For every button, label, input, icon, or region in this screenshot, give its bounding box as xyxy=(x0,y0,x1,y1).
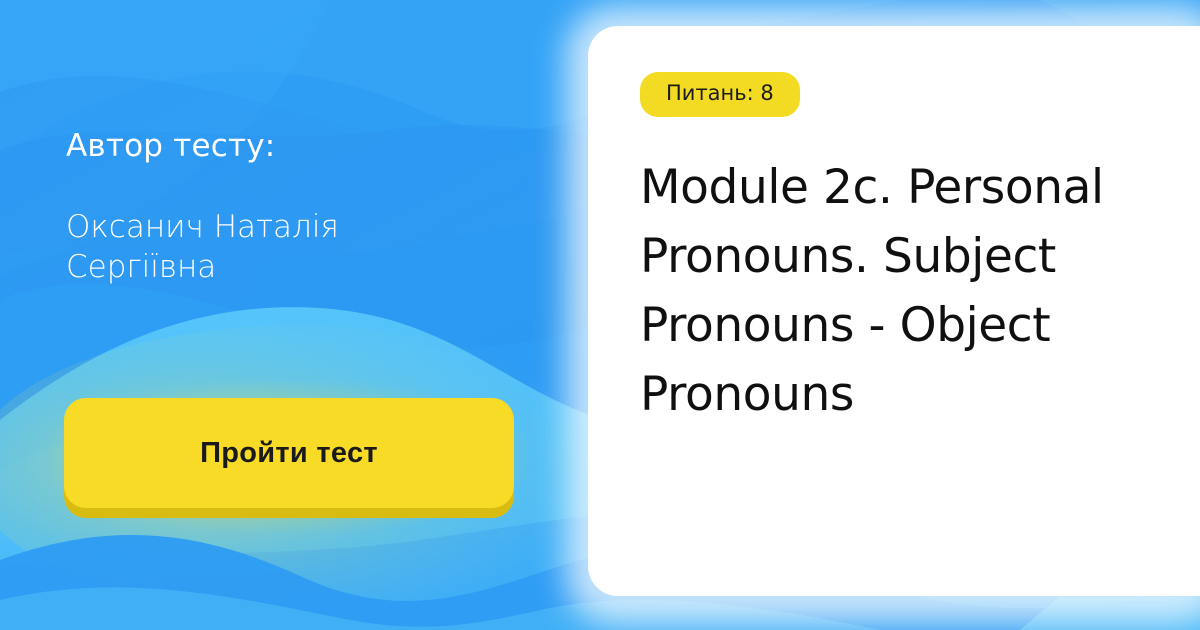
test-info-card: Питань: 8 Module 2c. Personal Pronouns. … xyxy=(588,26,1200,596)
author-name: Оксанич Наталія Сергіївна xyxy=(66,207,466,287)
test-title: Module 2c. Personal Pronouns. Subject Pr… xyxy=(640,153,1170,429)
author-label: Автор тесту: xyxy=(66,128,275,164)
question-count-badge: Питань: 8 xyxy=(640,72,800,117)
cta-button-wrapper: Пройти тест xyxy=(64,398,514,518)
left-panel: Автор тесту: Оксанич Наталія Сергіївна П… xyxy=(0,0,600,630)
take-test-button[interactable]: Пройти тест xyxy=(64,398,514,508)
